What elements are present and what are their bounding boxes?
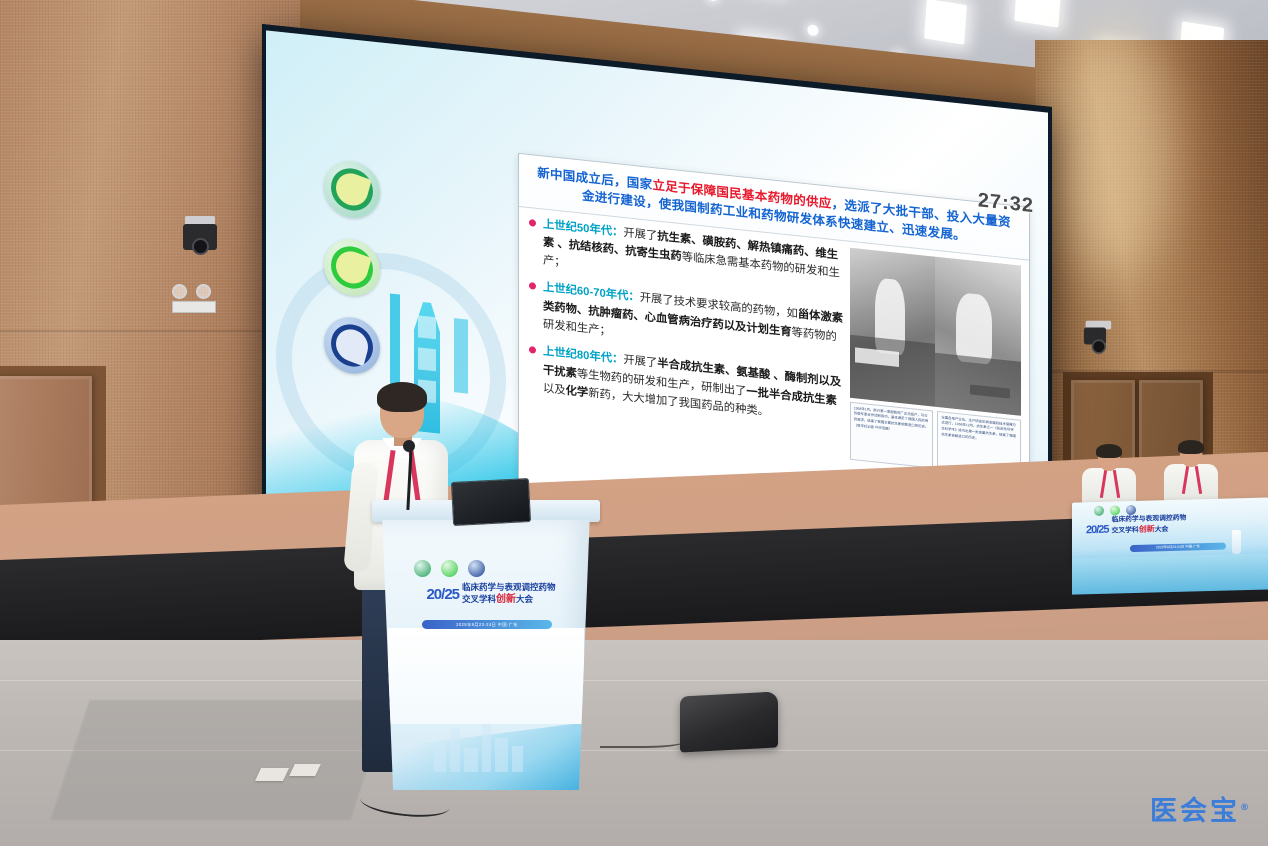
podium-logo-1 <box>414 560 431 577</box>
watermark-logo: 医会宝® <box>1150 789 1252 828</box>
bullet-3-em-b: 一批半合成抗生素 <box>746 385 836 407</box>
podium-logo-2 <box>441 560 458 577</box>
presenter-hair <box>377 382 427 412</box>
slide-bullet-list: 上世纪50年代：开展了抗生素、磺胺药、解热镇痛药、维生素 、抗结核药、抗寄生虫药… <box>527 213 846 458</box>
bullet-3-text-c: 以及 <box>543 382 566 396</box>
organisation-logos <box>324 159 380 399</box>
bullet-3-lead: 上世纪80年代： <box>543 346 623 366</box>
head-table: 20/25 临床药学与表观调控药物 交叉学科创新大会 2025年8月23-24日… <box>1072 446 1268 576</box>
head-table-skirt <box>1072 553 1268 594</box>
historical-photo-1 <box>850 247 936 406</box>
floor-paper-2 <box>289 764 321 776</box>
panelist-right-lanyard <box>1184 466 1200 496</box>
panelist-left-lanyard <box>1102 470 1118 500</box>
floor-reflection <box>51 700 390 820</box>
watermark-text: 医会宝 <box>1150 796 1240 827</box>
podium-logos <box>414 560 485 577</box>
podium-brand-line2-red: 创新 <box>496 594 516 605</box>
conference-hall-photo: 27:32 新中国成立后，国家立足于保障国民基本药物的供应，选派了大批干部、投入… <box>0 0 1268 846</box>
head-table-brand-line1: 临床药学与表观调控药物 <box>1112 515 1187 524</box>
historical-photo-2 <box>935 256 1021 415</box>
head-table-logos <box>1094 505 1136 516</box>
podium-brand-line1: 临床药学与表观调控药物 <box>462 582 556 592</box>
head-table-brand-line2-red: 创新 <box>1139 524 1155 533</box>
wall-camera-right <box>1084 328 1106 345</box>
podium-brand: 20/25 临床药学与表观调控药物 交叉学科创新大会 <box>396 582 586 607</box>
wall-camera <box>183 224 217 250</box>
org-logo-1 <box>324 159 380 221</box>
podium-brand-line2-post: 大会 <box>516 594 533 604</box>
podium: 20/25 临床药学与表观调控药物 交叉学科创新大会 2025年8月23-24日… <box>378 500 594 800</box>
panelist-left-hair <box>1096 444 1122 458</box>
head-table-brand-subtitle: 2025年8月23-24日 中国·广东 <box>1130 543 1226 553</box>
podium-brand-subtitle: 2025年8月23-24日 中国·广东 <box>422 620 552 629</box>
podium-body: 20/25 临床药学与表观调控药物 交叉学科创新大会 2025年8月23-24日… <box>378 520 594 790</box>
bullet-3-text-a: 开展了 <box>623 354 657 370</box>
watermark-trademark-icon: ® <box>1240 803 1252 813</box>
panelist-left <box>1082 446 1136 508</box>
bullet-dot-icon <box>529 282 536 290</box>
head-table-brand-line2-post: 大会 <box>1155 526 1169 533</box>
bullet-dot-icon <box>529 346 536 354</box>
panelist-right-hair <box>1178 440 1204 454</box>
monitor-cable <box>600 734 686 748</box>
panelist-right <box>1164 442 1218 504</box>
org-logo-2 <box>324 237 380 299</box>
podium-skyline-decor <box>434 716 530 772</box>
podium-brand-line2-pre: 交叉学科 <box>462 594 496 604</box>
bullet-dot-icon <box>529 219 536 227</box>
bullet-3-em-c: 化学 <box>566 385 589 399</box>
stage-monitor-speaker <box>680 691 778 752</box>
photo-caption-1: 1958年1月，新兴第一家国营药厂正式投产，可与苏联专家合作试制成功，基本满足了… <box>850 401 934 468</box>
org-logo-3 <box>324 315 380 377</box>
slide-photo-panel: 1958年1月，新兴第一家国营药厂正式投产，可与苏联专家合作试制成功，基本满足了… <box>846 247 1021 477</box>
podium-brand-text: 临床药学与表观调控药物 交叉学科创新大会 <box>462 582 556 607</box>
head-table-brand-year: 20/25 <box>1086 523 1109 536</box>
podium-brand-year: 20/25 <box>426 586 459 603</box>
water-bottle <box>1232 530 1241 554</box>
bullet-1-lead: 上世纪50年代： <box>543 218 623 238</box>
microphone-icon <box>403 440 415 452</box>
emergency-light <box>172 284 216 312</box>
head-table-brand-line2-pre: 交叉学科 <box>1112 527 1139 535</box>
head-table-logo-1 <box>1094 506 1104 516</box>
bullet-1-text-a: 开展了 <box>623 226 657 242</box>
head-table-logo-3 <box>1126 505 1136 515</box>
head-table-logo-2 <box>1110 505 1120 515</box>
head-table-brand-text: 临床药学与表观调控药物 交叉学科创新大会 <box>1112 515 1187 537</box>
podium-logo-3 <box>468 560 485 577</box>
slide-title-part1: 新中国成立后，国家 <box>537 166 652 192</box>
presenter-laptop[interactable] <box>451 478 531 526</box>
podium-brand-band <box>388 628 584 724</box>
historical-photos <box>850 247 1021 415</box>
